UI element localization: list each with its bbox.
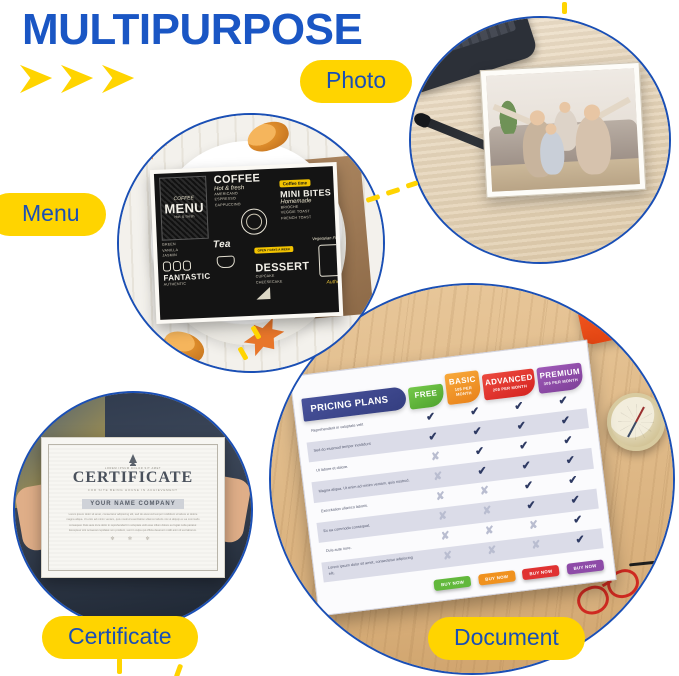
menu-coffee-item: CAPPUCCINO xyxy=(215,201,275,209)
check-icon: ✔ xyxy=(545,433,591,449)
certificate-name-band: YOUR NAME COMPANY xyxy=(82,499,184,509)
menu-fantastic-sub: AUTHENTIC xyxy=(164,281,211,288)
check-icon: ✔ xyxy=(455,424,501,440)
buy-now-button-free[interactable]: BUY NOW xyxy=(433,575,471,590)
label-certificate[interactable]: Certificate xyxy=(42,616,198,659)
cross-icon: ✘ xyxy=(511,518,557,534)
page-title: MULTIPURPOSE xyxy=(22,4,362,56)
menu-coffee-time-badge: Coffee time xyxy=(280,179,311,187)
triple-chevron-right-icon xyxy=(18,62,138,96)
buy-now-button-advanced[interactable]: BUY NOW xyxy=(522,564,560,579)
menu-word: MENU xyxy=(164,201,204,216)
label-menu[interactable]: Menu xyxy=(0,193,106,236)
cross-icon: ✘ xyxy=(513,538,559,554)
menu-open-badge: OPEN 7 DAYS A WEEK xyxy=(255,246,294,254)
pricing-table-sheet: PRICING PLANS FREE BASIC 10$ PER MONTH A… xyxy=(289,340,616,617)
check-icon: ✔ xyxy=(496,398,542,414)
label-document[interactable]: Document xyxy=(428,617,585,660)
check-icon: ✔ xyxy=(509,498,555,514)
cross-icon: ✘ xyxy=(469,544,515,560)
check-icon: ✔ xyxy=(555,513,601,529)
check-icon: ✔ xyxy=(499,418,545,434)
certificate-body-text: Lorem ipsum dolor sit amet, consectetur … xyxy=(56,512,210,533)
check-icon: ✔ xyxy=(543,413,589,429)
dashed-connector xyxy=(117,658,122,674)
check-icon: ✔ xyxy=(548,453,594,469)
menu-circle: COFFEE MENU Hot & fresh COFFEE Hot & fre… xyxy=(117,113,385,373)
plan-header-basic[interactable]: BASIC 10$ PER MONTH xyxy=(444,371,482,406)
certificate-document: LOREM IPSUM DOLOR SIT AMET CERTIFICATE F… xyxy=(41,437,225,577)
cross-icon: ✘ xyxy=(467,524,513,540)
check-icon: ✔ xyxy=(550,473,596,489)
check-icon: ✔ xyxy=(558,533,604,549)
buy-now-button-premium[interactable]: BUY NOW xyxy=(566,559,604,574)
buy-now-button-basic[interactable]: BUY NOW xyxy=(478,570,516,585)
check-icon: ✔ xyxy=(408,409,454,425)
label-photo[interactable]: Photo xyxy=(300,60,412,103)
cross-icon: ✘ xyxy=(423,529,469,545)
check-icon: ✔ xyxy=(501,438,547,454)
cafe-menu-card: COFFEE MENU Hot & fresh COFFEE Hot & fre… xyxy=(150,162,344,324)
check-icon: ✔ xyxy=(452,404,498,420)
menu-vegetarian-badge: Vegetarian FRIENDLY xyxy=(312,235,339,242)
check-icon: ✔ xyxy=(459,464,505,480)
certificate-circle: LOREM IPSUM DOLOR SIT AMET CERTIFICATE F… xyxy=(13,391,253,629)
certificate-stars: ✻ ✻ ✻ xyxy=(56,536,210,542)
dashed-connector xyxy=(562,2,567,14)
cross-icon: ✘ xyxy=(420,509,466,525)
certificate-subtitle: FOR SITE BEING HOUSE IN ACHIEVEMENT xyxy=(56,488,210,492)
cross-icon: ✘ xyxy=(425,549,471,565)
cross-icon: ✘ xyxy=(418,489,464,505)
cross-icon: ✘ xyxy=(413,449,459,465)
family-photo-print xyxy=(480,62,646,198)
photo-circle xyxy=(409,16,671,264)
plan-name: FREE xyxy=(410,389,442,401)
menu-word-sub: Hot & fresh xyxy=(175,215,195,221)
menu-tea-item: JASMIN xyxy=(163,252,210,259)
certificate-emblem-icon xyxy=(122,452,144,466)
dashed-connector xyxy=(386,187,401,196)
cross-icon: ✘ xyxy=(464,504,510,520)
compass-icon xyxy=(607,393,665,451)
menu-footer-script: Authentic xyxy=(314,279,339,287)
cross-icon: ✘ xyxy=(462,484,508,500)
poster-canvas: PRICING PLANS FREE BASIC 10$ PER MONTH A… xyxy=(0,0,679,676)
menu-dessert-item: CHEESECAKE xyxy=(256,278,310,286)
menu-tea-title: Tea xyxy=(213,239,251,251)
check-icon: ✔ xyxy=(553,493,599,509)
check-icon: ✔ xyxy=(540,393,586,409)
check-icon: ✔ xyxy=(457,444,503,460)
check-icon: ✔ xyxy=(504,458,550,474)
check-icon: ✔ xyxy=(410,429,456,445)
dashed-connector xyxy=(174,664,183,676)
certificate-title: CERTIFICATE xyxy=(56,470,210,487)
cross-icon: ✘ xyxy=(415,469,461,485)
check-icon: ✔ xyxy=(506,478,552,494)
